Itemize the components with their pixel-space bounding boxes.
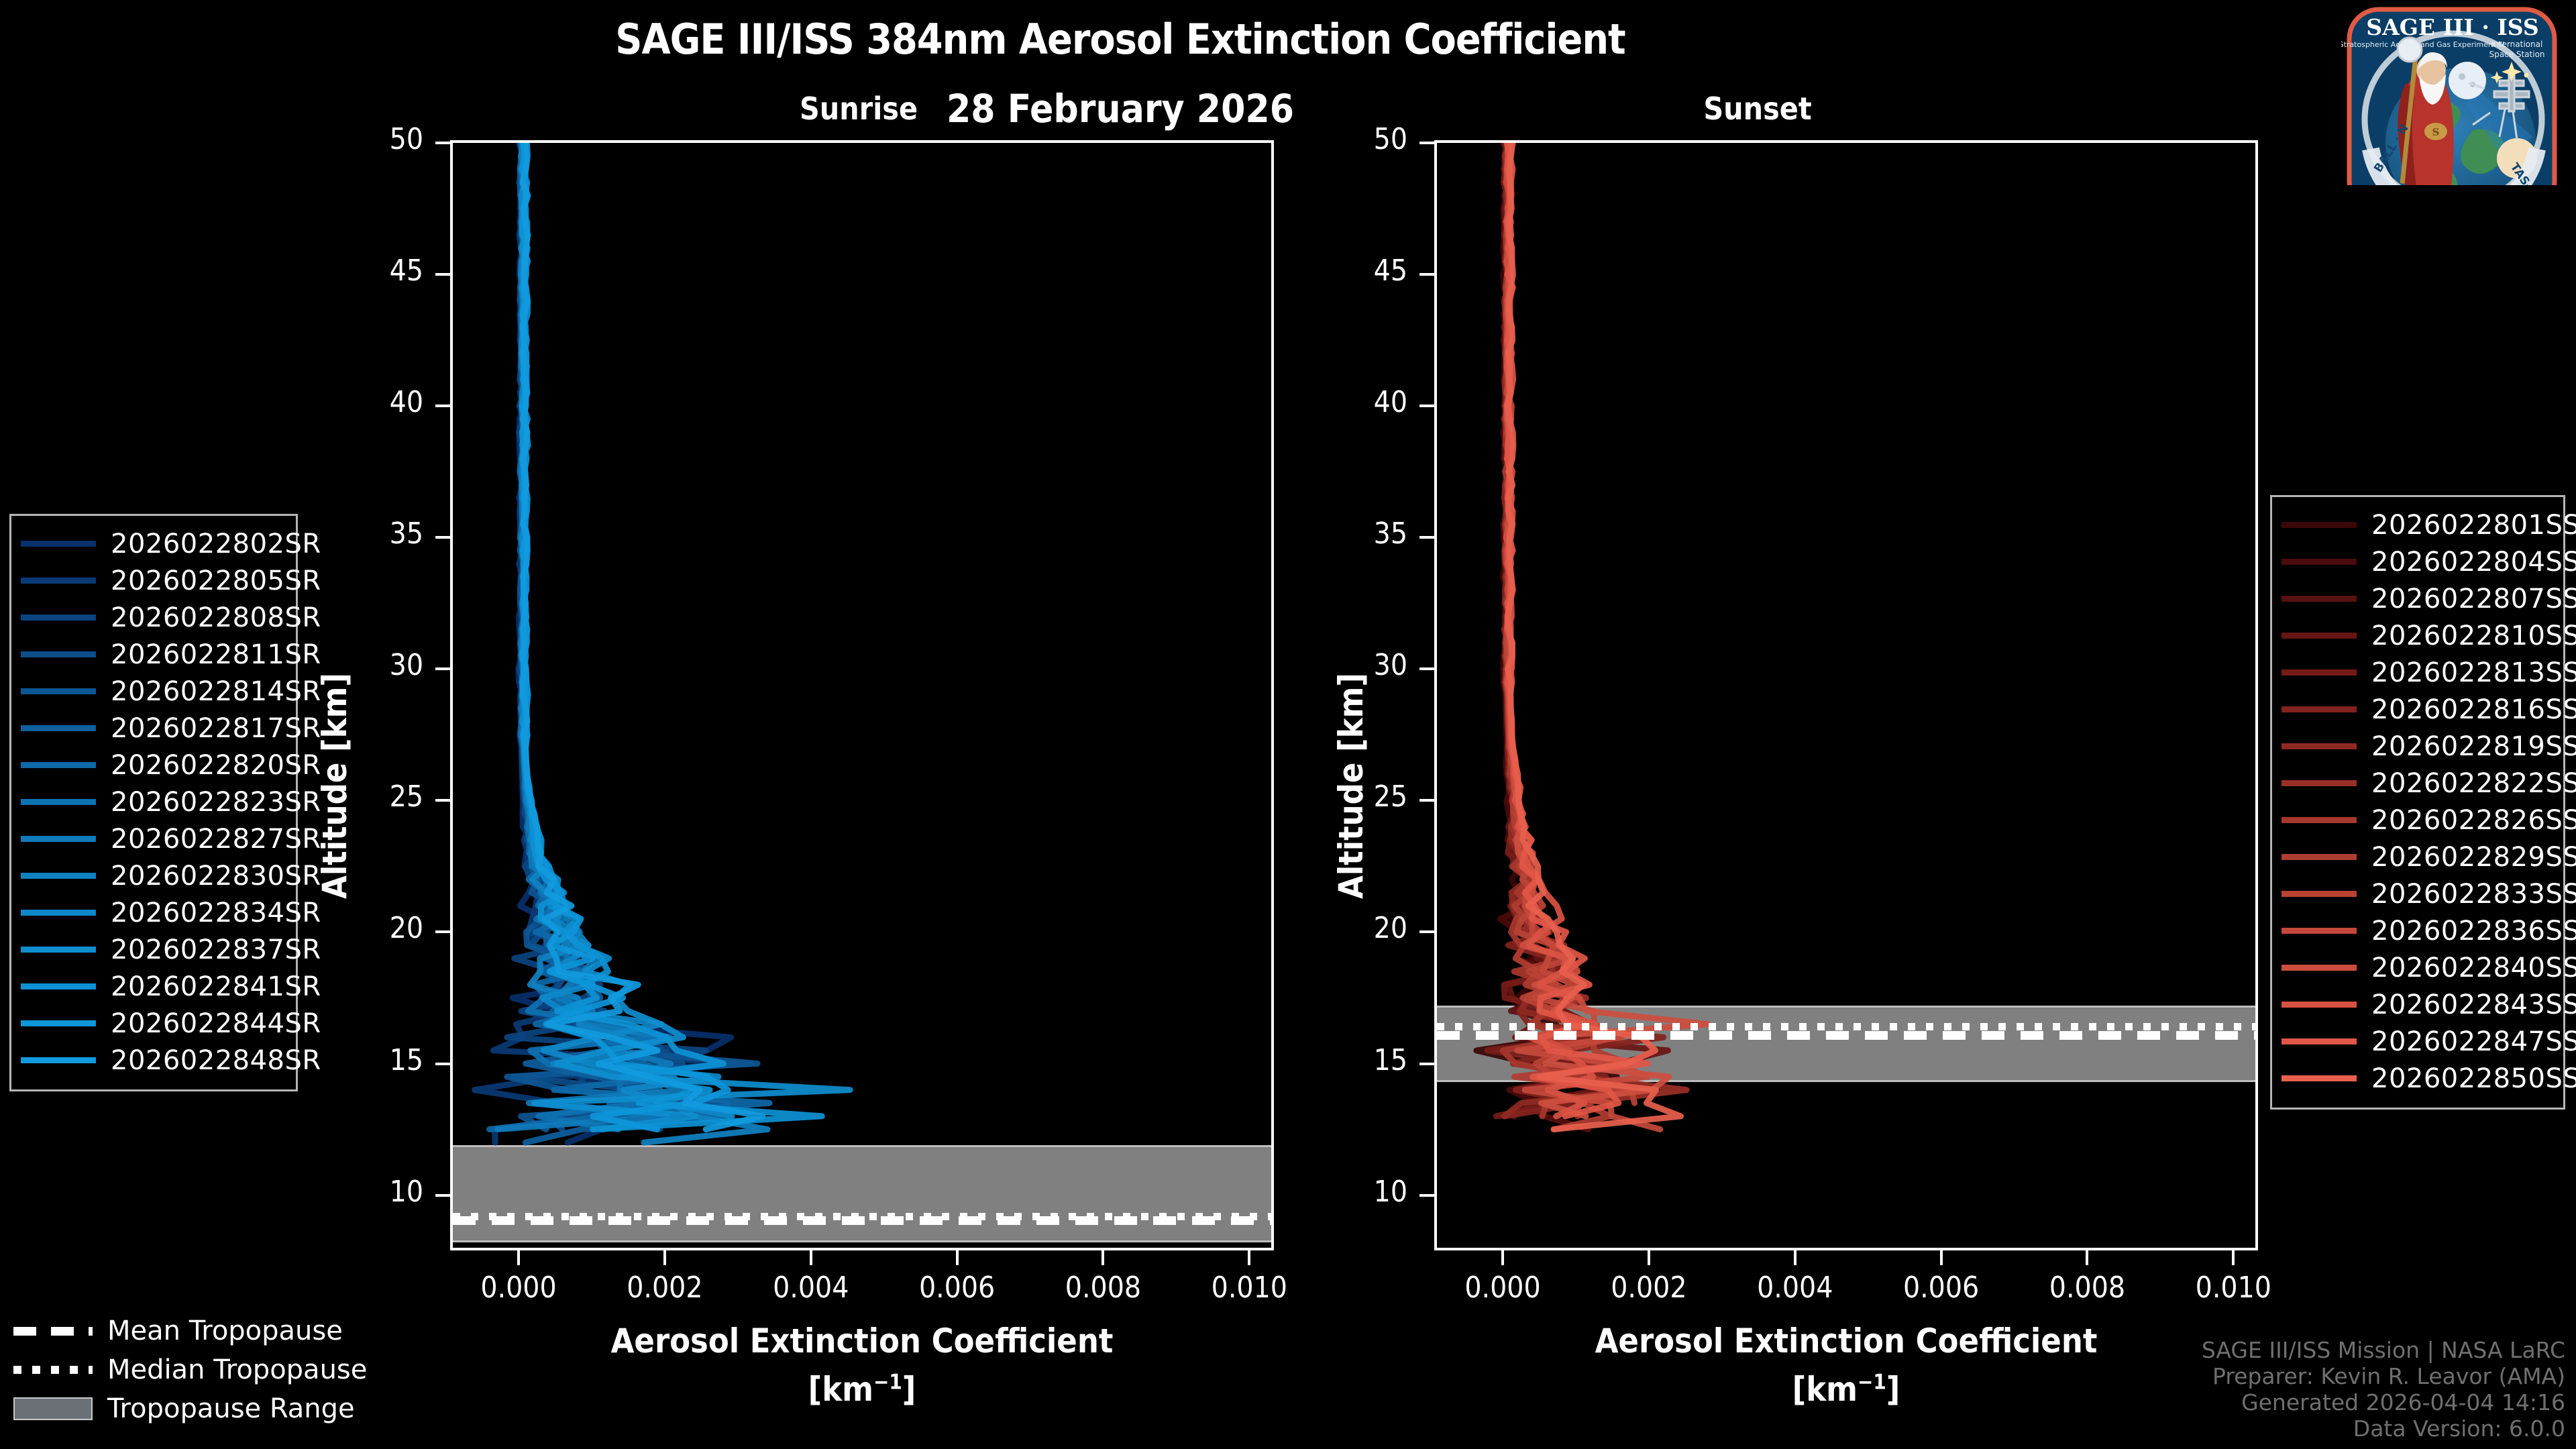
- tropopause-legend-item: Median Tropopause: [13, 1350, 367, 1389]
- y-axis-tick: [435, 142, 450, 144]
- legend-item[interactable]: 2026022801SS: [2282, 506, 2551, 543]
- legend-item[interactable]: 2026022827SR: [21, 820, 284, 857]
- logo-title: SAGE III · ISS: [2366, 14, 2538, 40]
- y-axis-tick-label: 20: [1307, 911, 1407, 945]
- legend-item-label: 2026022833SS: [2371, 879, 2576, 910]
- x-axis-tick-label: 0.008: [2013, 1271, 2161, 1305]
- legend-item-label: 2026022817SR: [111, 713, 321, 744]
- legend-item-label: 2026022805SR: [111, 566, 321, 596]
- y-axis-tick-label: 15: [1307, 1043, 1407, 1077]
- sunrise-panel-title: Sunrise: [671, 91, 1046, 127]
- sunrise-plot-area[interactable]: [450, 140, 1274, 1250]
- legend-item-label: 2026022814SR: [111, 676, 321, 707]
- y-axis-tick: [435, 273, 450, 276]
- legend-item[interactable]: 2026022833SS: [2282, 875, 2551, 912]
- legend-color-swatch: [21, 651, 96, 657]
- legend-item[interactable]: 2026022813SS: [2282, 654, 2551, 691]
- legend-color-swatch: [21, 578, 96, 584]
- x-axis-tick: [1794, 1250, 1796, 1265]
- sunset-plot-area[interactable]: [1434, 140, 2258, 1250]
- x-axis-tick-label: 0.000: [1429, 1271, 1576, 1305]
- y-axis-tick: [435, 1194, 450, 1197]
- legend-item-label: 2026022816SS: [2371, 694, 2576, 725]
- tropopause-legend-label: Mean Tropopause: [107, 1316, 343, 1346]
- credit-line: SAGE III/ISS Mission | NASA LaRC: [2202, 1338, 2565, 1364]
- y-axis-tick: [1419, 1194, 1434, 1197]
- legend-item-label: 2026022844SR: [111, 1008, 321, 1039]
- mean-tropopause-line: [453, 1216, 1271, 1225]
- legend-item-label: 2026022827SR: [111, 824, 321, 855]
- legend-item-label: 2026022807SS: [2371, 584, 2576, 614]
- x-axis-tick: [2086, 1250, 2088, 1265]
- x-axis-tick-label: 0.010: [2159, 1271, 2307, 1305]
- legend-item-label: 2026022810SS: [2371, 621, 2576, 651]
- legend-color-swatch: [2282, 706, 2357, 712]
- mean-tropopause-line: [1437, 1031, 2255, 1040]
- x-axis-tick: [1648, 1250, 1650, 1265]
- y-axis-tick: [1419, 799, 1434, 802]
- logo-subtitle: Stratospheric Aerosol and Gas Experiment…: [2341, 40, 2504, 49]
- legend-color-swatch: [2282, 965, 2357, 971]
- legend-item[interactable]: 2026022826SS: [2282, 802, 2551, 839]
- x-axis-tick-label: 0.002: [1575, 1271, 1723, 1305]
- credit-line: Generated 2026-04-04 14:16: [2202, 1390, 2565, 1416]
- legend-item-label: 2026022836SS: [2371, 916, 2576, 947]
- x-axis-tick-label: 0.000: [445, 1271, 592, 1305]
- y-axis-tick-label: 45: [1307, 254, 1407, 288]
- legend-item[interactable]: 2026022822SS: [2282, 765, 2551, 802]
- x-axis-tick: [1501, 1250, 1504, 1265]
- legend-item[interactable]: 2026022843SS: [2282, 986, 2551, 1023]
- legend-item-label: 2026022819SS: [2371, 731, 2576, 762]
- page-title: SAGE III/ISS 384nm Aerosol Extinction Co…: [0, 15, 2241, 64]
- legend-color-swatch: [2282, 1038, 2357, 1044]
- legend-item-label: 2026022826SS: [2371, 805, 2576, 836]
- legend-item[interactable]: 2026022802SR: [21, 525, 284, 562]
- tropopause-line-swatch: [13, 1327, 93, 1336]
- legend-color-swatch: [21, 873, 96, 879]
- sunrise-y-axis-title: Altitude [km]: [315, 673, 354, 899]
- x-axis-tick-label: 0.006: [883, 1271, 1031, 1305]
- x-axis-tick-label: 0.002: [591, 1271, 739, 1305]
- x-axis-tick-label: 0.006: [1868, 1271, 2015, 1305]
- x-axis-tick-label: 0.010: [1175, 1271, 1323, 1305]
- y-axis-tick: [435, 405, 450, 407]
- legend-color-swatch: [21, 1057, 96, 1063]
- tropopause-legend-item: Mean Tropopause: [13, 1311, 367, 1350]
- legend-item[interactable]: 2026022847SS: [2282, 1023, 2551, 1060]
- y-axis-tick-label: 35: [323, 517, 423, 551]
- legend-item-label: 2026022811SR: [111, 639, 321, 670]
- sunrise-legend[interactable]: 2026022802SR2026022805SR2026022808SR2026…: [9, 514, 298, 1091]
- x-axis-tick: [2232, 1250, 2235, 1265]
- x-axis-tick-label: 0.004: [737, 1271, 885, 1305]
- tropopause-legend-key: [13, 1361, 93, 1379]
- legend-color-swatch: [2282, 669, 2357, 676]
- legend-item-label: 2026022848SR: [111, 1045, 321, 1076]
- legend-item-label: 2026022837SR: [111, 934, 321, 965]
- legend-item-label: 2026022822SS: [2371, 768, 2576, 799]
- legend-item[interactable]: 2026022819SS: [2282, 728, 2551, 765]
- legend-color-swatch: [2282, 559, 2357, 565]
- legend-item-label: 2026022804SS: [2371, 547, 2576, 578]
- legend-color-swatch: [2282, 743, 2357, 749]
- legend-item[interactable]: 2026022808SR: [21, 599, 284, 636]
- y-axis-tick-label: 40: [1307, 385, 1407, 419]
- credit-line: Data Version: 6.0.0: [2202, 1416, 2565, 1442]
- svg-text:S: S: [2432, 126, 2440, 138]
- legend-color-swatch: [21, 614, 96, 621]
- legend-item-label: 2026022802SR: [111, 529, 321, 559]
- logo-iss-line2: Space Station: [2489, 50, 2544, 59]
- tropopause-legend: Mean TropopauseMedian TropopauseTropopau…: [13, 1311, 367, 1428]
- x-axis-tick: [810, 1250, 812, 1265]
- x-axis-tick: [1248, 1250, 1250, 1265]
- legend-item[interactable]: 2026022840SS: [2282, 949, 2551, 986]
- y-axis-tick: [1419, 536, 1434, 539]
- x-axis-tick: [1940, 1250, 1943, 1265]
- legend-color-swatch: [21, 947, 96, 953]
- legend-item[interactable]: 2026022820SR: [21, 747, 284, 784]
- legend-color-swatch: [2282, 928, 2357, 934]
- y-axis-tick: [1419, 667, 1434, 670]
- y-axis-tick: [1419, 273, 1434, 276]
- legend-item-label: 2026022834SR: [111, 898, 321, 928]
- legend-item[interactable]: 2026022805SR: [21, 562, 284, 599]
- legend-item[interactable]: 2026022804SS: [2282, 543, 2551, 580]
- legend-color-swatch: [21, 541, 96, 547]
- legend-item-label: 2026022850SS: [2371, 1063, 2576, 1094]
- legend-item[interactable]: 2026022837SR: [21, 931, 284, 968]
- y-axis-tick-label: 35: [1307, 517, 1407, 551]
- logo-iss-line1: International: [2491, 40, 2543, 49]
- sunset-x-axis-unit: [km−1]: [1434, 1370, 2258, 1409]
- sunset-legend[interactable]: 2026022801SS2026022804SS2026022807SS2026…: [2270, 495, 2565, 1110]
- y-axis-tick-label: 45: [323, 254, 423, 288]
- credit-line: Preparer: Kevin R. Leavor (AMA): [2202, 1364, 2565, 1390]
- y-axis-tick: [1419, 142, 1434, 144]
- legend-item[interactable]: 2026022810SS: [2282, 617, 2551, 654]
- legend-item-label: 2026022830SR: [111, 861, 321, 892]
- y-axis-tick: [435, 667, 450, 670]
- legend-item[interactable]: 2026022834SR: [21, 894, 284, 931]
- legend-color-swatch: [21, 1020, 96, 1026]
- legend-item[interactable]: 2026022817SR: [21, 710, 284, 747]
- legend-item[interactable]: 2026022841SR: [21, 968, 284, 1005]
- tropopause-legend-key: [13, 1400, 93, 1417]
- legend-item[interactable]: 2026022823SR: [21, 784, 284, 820]
- legend-color-swatch: [2282, 780, 2357, 786]
- y-axis-tick: [1419, 405, 1434, 407]
- tropopause-legend-key: [13, 1322, 93, 1340]
- y-axis-tick: [1419, 930, 1434, 933]
- legend-item-label: 2026022843SS: [2371, 989, 2576, 1020]
- y-axis-tick: [435, 930, 450, 933]
- legend-item[interactable]: 2026022816SS: [2282, 691, 2551, 728]
- sage-iii-iss-mission-patch-logo: S BALL · N TAS-I · ESA SAGE III · ISS St…: [2341, 5, 2563, 185]
- tropopause-legend-label: Tropopause Range: [107, 1393, 355, 1424]
- legend-item-label: 2026022820SR: [111, 750, 321, 781]
- legend-color-swatch: [2282, 817, 2357, 823]
- legend-item[interactable]: 2026022811SR: [21, 636, 284, 673]
- x-axis-tick-label: 0.004: [1721, 1271, 1869, 1305]
- legend-color-swatch: [2282, 1002, 2357, 1008]
- legend-color-swatch: [2282, 522, 2357, 528]
- sunset-y-axis-title: Altitude [km]: [1332, 673, 1371, 899]
- legend-item[interactable]: 2026022807SS: [2282, 580, 2551, 617]
- x-axis-tick: [1102, 1250, 1104, 1265]
- median-tropopause-line: [1437, 1023, 2255, 1030]
- legend-item-label: 2026022841SR: [111, 971, 321, 1002]
- y-axis-tick: [435, 1063, 450, 1065]
- x-axis-tick: [956, 1250, 959, 1265]
- y-axis-tick-label: 20: [323, 911, 423, 945]
- y-axis-tick-label: 10: [323, 1175, 423, 1209]
- legend-item[interactable]: 2026022850SS: [2282, 1060, 2551, 1097]
- sunset-panel-title: Sunset: [1570, 91, 1945, 127]
- legend-item[interactable]: 2026022814SR: [21, 673, 284, 710]
- tropopause-legend-item: Tropopause Range: [13, 1389, 367, 1428]
- legend-item[interactable]: 2026022844SR: [21, 1005, 284, 1042]
- legend-item[interactable]: 2026022836SS: [2282, 912, 2551, 949]
- legend-color-swatch: [21, 836, 96, 842]
- legend-item[interactable]: 2026022829SS: [2282, 839, 2551, 875]
- legend-color-swatch: [2282, 1075, 2357, 1081]
- legend-color-swatch: [21, 983, 96, 989]
- legend-color-swatch: [21, 725, 96, 731]
- y-axis-tick: [435, 536, 450, 539]
- legend-color-swatch: [2282, 596, 2357, 602]
- legend-color-swatch: [2282, 633, 2357, 639]
- tropopause-legend-label: Median Tropopause: [107, 1354, 367, 1385]
- legend-item-label: 2026022840SS: [2371, 953, 2576, 983]
- legend-item-label: 2026022813SS: [2371, 657, 2576, 688]
- x-axis-tick-label: 0.008: [1029, 1271, 1177, 1305]
- sunset-profile-curves: [1437, 143, 2255, 1248]
- legend-item-label: 2026022808SR: [111, 602, 321, 633]
- sunrise-x-axis-unit: [km−1]: [450, 1370, 1274, 1409]
- sunrise-x-axis-title: Aerosol Extinction Coefficient: [450, 1322, 1274, 1360]
- legend-item-label: 2026022823SR: [111, 787, 321, 818]
- legend-item-label: 2026022801SS: [2371, 510, 2576, 541]
- legend-color-swatch: [21, 762, 96, 768]
- legend-color-swatch: [2282, 854, 2357, 860]
- legend-color-swatch: [2282, 891, 2357, 897]
- legend-item-label: 2026022829SS: [2371, 842, 2576, 873]
- credits-block: SAGE III/ISS Mission | NASA LaRCPreparer…: [2202, 1338, 2565, 1442]
- tropopause-range-swatch: [13, 1397, 93, 1420]
- x-axis-tick: [663, 1250, 666, 1265]
- legend-item[interactable]: 2026022830SR: [21, 857, 284, 894]
- legend-color-swatch: [21, 910, 96, 916]
- sunset-x-axis-title: Aerosol Extinction Coefficient: [1434, 1322, 2258, 1360]
- legend-item[interactable]: 2026022848SR: [21, 1042, 284, 1079]
- legend-item-label: 2026022847SS: [2371, 1026, 2576, 1057]
- y-axis-tick-label: 50: [1307, 122, 1407, 156]
- sunrise-profile-curves: [453, 143, 1271, 1248]
- legend-color-swatch: [21, 799, 96, 805]
- legend-color-swatch: [21, 688, 96, 694]
- tropopause-line-swatch: [13, 1366, 93, 1374]
- y-axis-tick-label: 50: [323, 122, 423, 156]
- y-axis-tick: [1419, 1063, 1434, 1065]
- y-axis-tick-label: 15: [323, 1043, 423, 1077]
- y-axis-tick-label: 40: [323, 385, 423, 419]
- x-axis-tick: [517, 1250, 520, 1265]
- y-axis-tick-label: 10: [1307, 1175, 1407, 1209]
- y-axis-tick: [435, 799, 450, 802]
